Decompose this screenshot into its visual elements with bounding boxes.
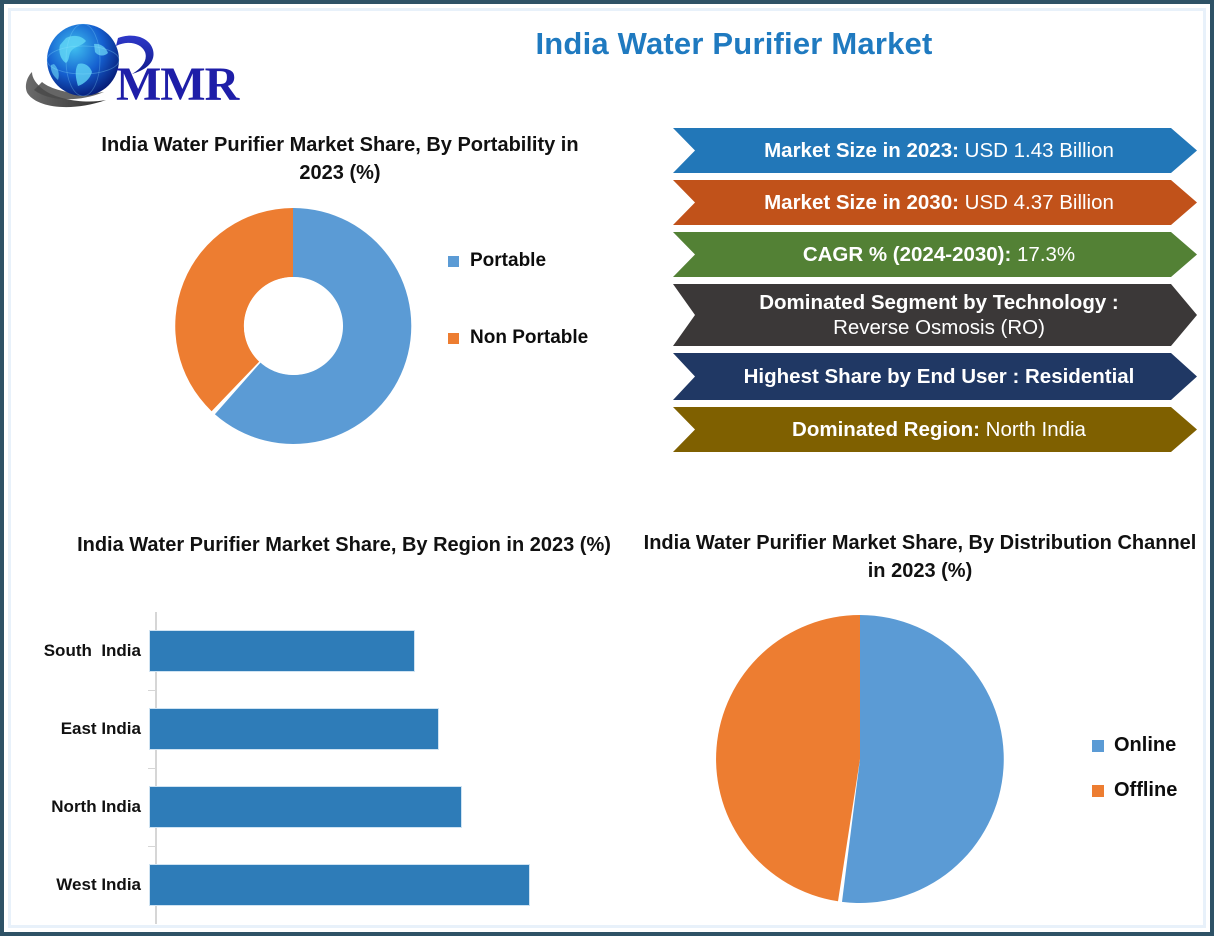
banner-value: 17.3% <box>1017 243 1075 266</box>
bar-chart-title: India Water Purifier Market Share, By Re… <box>64 532 624 560</box>
bar-row[interactable]: East India <box>18 690 618 768</box>
bar-category-label: South India <box>18 641 149 661</box>
page-title: India Water Purifier Market <box>304 26 1164 62</box>
banner-key: Market Size in 2023: <box>764 139 959 162</box>
banner-key: Dominated Region: <box>792 418 980 441</box>
banner-value: USD 4.37 Billion <box>965 191 1114 214</box>
bar-row[interactable]: North India <box>18 768 618 846</box>
bar-fill-south-india[interactable] <box>149 630 415 672</box>
infographic-page: MMR India Water Purifier Market India Wa… <box>0 0 1214 936</box>
banner-key: Highest Share by End User : Residential <box>744 365 1135 388</box>
bar-fill-west-india[interactable] <box>149 864 530 906</box>
legend-item-online[interactable]: Online <box>1092 734 1177 757</box>
legend-label-portable: Portable <box>470 250 546 272</box>
region-bar-chart: South India East India North India West … <box>18 612 618 924</box>
legend-item-portable[interactable]: Portable <box>448 250 588 272</box>
legend-label-online: Online <box>1114 734 1176 757</box>
legend-label-offline: Offline <box>1114 779 1177 802</box>
pie-chart-title: India Water Purifier Market Share, By Di… <box>640 530 1200 585</box>
donut-legend: Portable Non Portable <box>448 250 588 404</box>
banner-key: Dominated Segment by Technology : <box>759 291 1119 314</box>
bar-category-label: East India <box>18 719 149 739</box>
pie-slice-online <box>842 615 1004 903</box>
banner-key: Market Size in 2030: <box>764 191 959 214</box>
legend-label-non-portable: Non Portable <box>470 327 588 349</box>
bar-fill-east-india[interactable] <box>149 708 439 750</box>
banner-market-size-2030: Market Size in 2030: USD 4.37 Billion <box>673 180 1197 225</box>
key-metrics-banner-list: Market Size in 2023: USD 1.43 Billion Ma… <box>673 128 1197 459</box>
banner-value: USD 1.43 Billion <box>965 139 1114 162</box>
bar-fill-north-india[interactable] <box>149 786 462 828</box>
pie-slice-offline <box>716 615 860 901</box>
distribution-pie-chart <box>712 611 1008 907</box>
banner-cagr: CAGR % (2024-2030): 17.3% <box>673 232 1197 277</box>
bar-row[interactable]: West India <box>18 846 618 924</box>
legend-swatch-non-portable <box>448 333 459 344</box>
pie-legend: Online Offline <box>1092 734 1177 824</box>
portability-donut-chart <box>164 197 422 455</box>
mmr-logo: MMR <box>20 16 252 112</box>
banner-value: North India <box>986 418 1086 441</box>
banner-dominated-region: Dominated Region: North India <box>673 407 1197 452</box>
legend-item-non-portable[interactable]: Non Portable <box>448 327 588 349</box>
banner-value: Reverse Osmosis (RO) <box>833 316 1045 339</box>
legend-swatch-portable <box>448 256 459 267</box>
banner-key: CAGR % (2024-2030): <box>803 243 1012 266</box>
donut-chart-title: India Water Purifier Market Share, By Po… <box>90 132 590 187</box>
banner-dominated-segment: Dominated Segment by Technology : Revers… <box>673 284 1197 346</box>
legend-swatch-offline <box>1092 785 1104 797</box>
legend-swatch-online <box>1092 740 1104 752</box>
banner-highest-share-end-user: Highest Share by End User : Residential <box>673 353 1197 400</box>
bar-category-label: West India <box>18 875 149 895</box>
bar-category-label: North India <box>18 797 149 817</box>
globe-swoosh-icon: MMR <box>20 16 252 112</box>
legend-item-offline[interactable]: Offline <box>1092 779 1177 802</box>
banner-market-size-2023: Market Size in 2023: USD 1.43 Billion <box>673 128 1197 173</box>
bar-row[interactable]: South India <box>18 612 618 690</box>
svg-text:MMR: MMR <box>116 58 241 111</box>
